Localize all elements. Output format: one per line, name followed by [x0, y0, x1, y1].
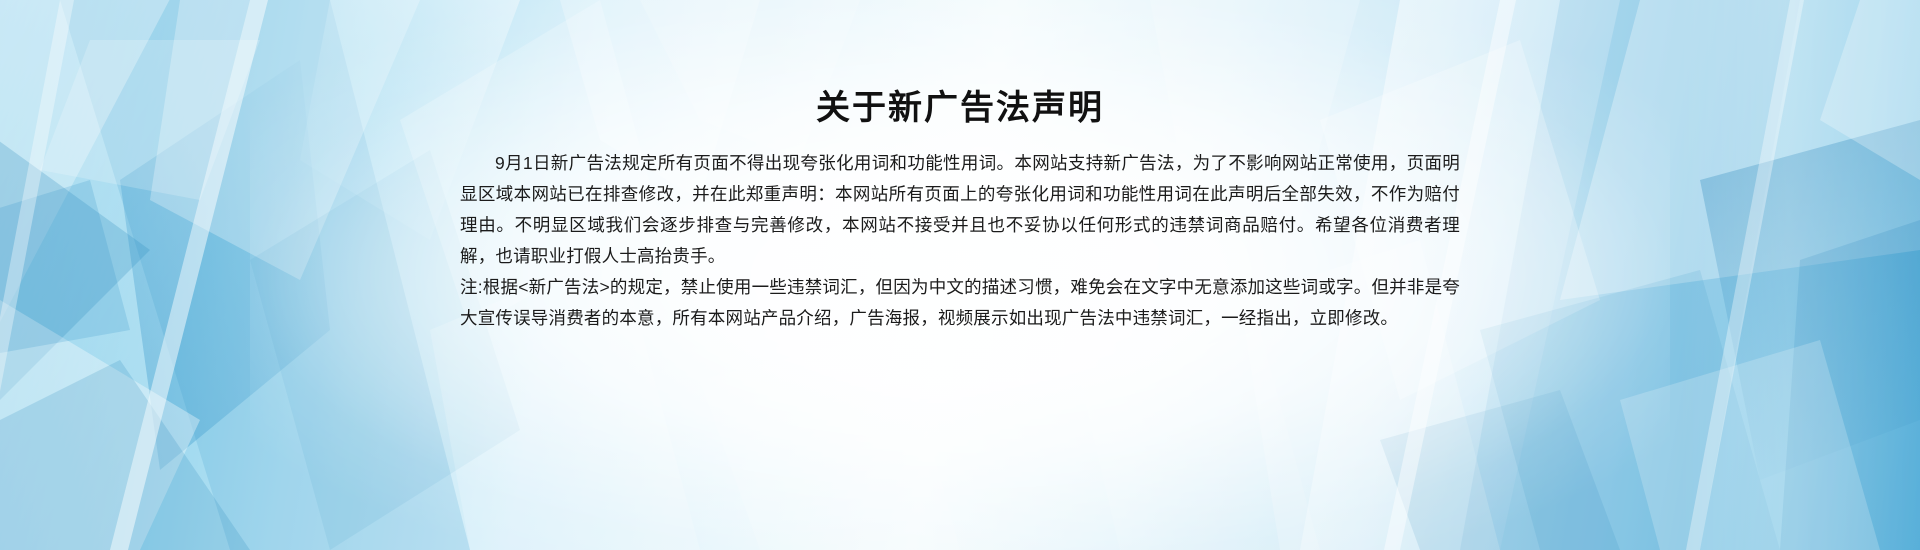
statement-paragraph-note: 注:根据<新广告法>的规定，禁止使用一些违禁词汇，但因为中文的描述习惯，难免会在…: [460, 272, 1460, 334]
advertising-law-statement-banner: 关于新广告法声明 9月1日新广告法规定所有页面不得出现夸张化用词和功能性用词。本…: [0, 0, 1920, 550]
statement-content: 关于新广告法声明 9月1日新广告法规定所有页面不得出现夸张化用词和功能性用词。本…: [460, 0, 1460, 550]
statement-body: 9月1日新广告法规定所有页面不得出现夸张化用词和功能性用词。本网站支持新广告法，…: [460, 148, 1460, 334]
page-title: 关于新广告法声明: [460, 88, 1460, 129]
statement-paragraph-main: 9月1日新广告法规定所有页面不得出现夸张化用词和功能性用词。本网站支持新广告法，…: [460, 148, 1460, 272]
